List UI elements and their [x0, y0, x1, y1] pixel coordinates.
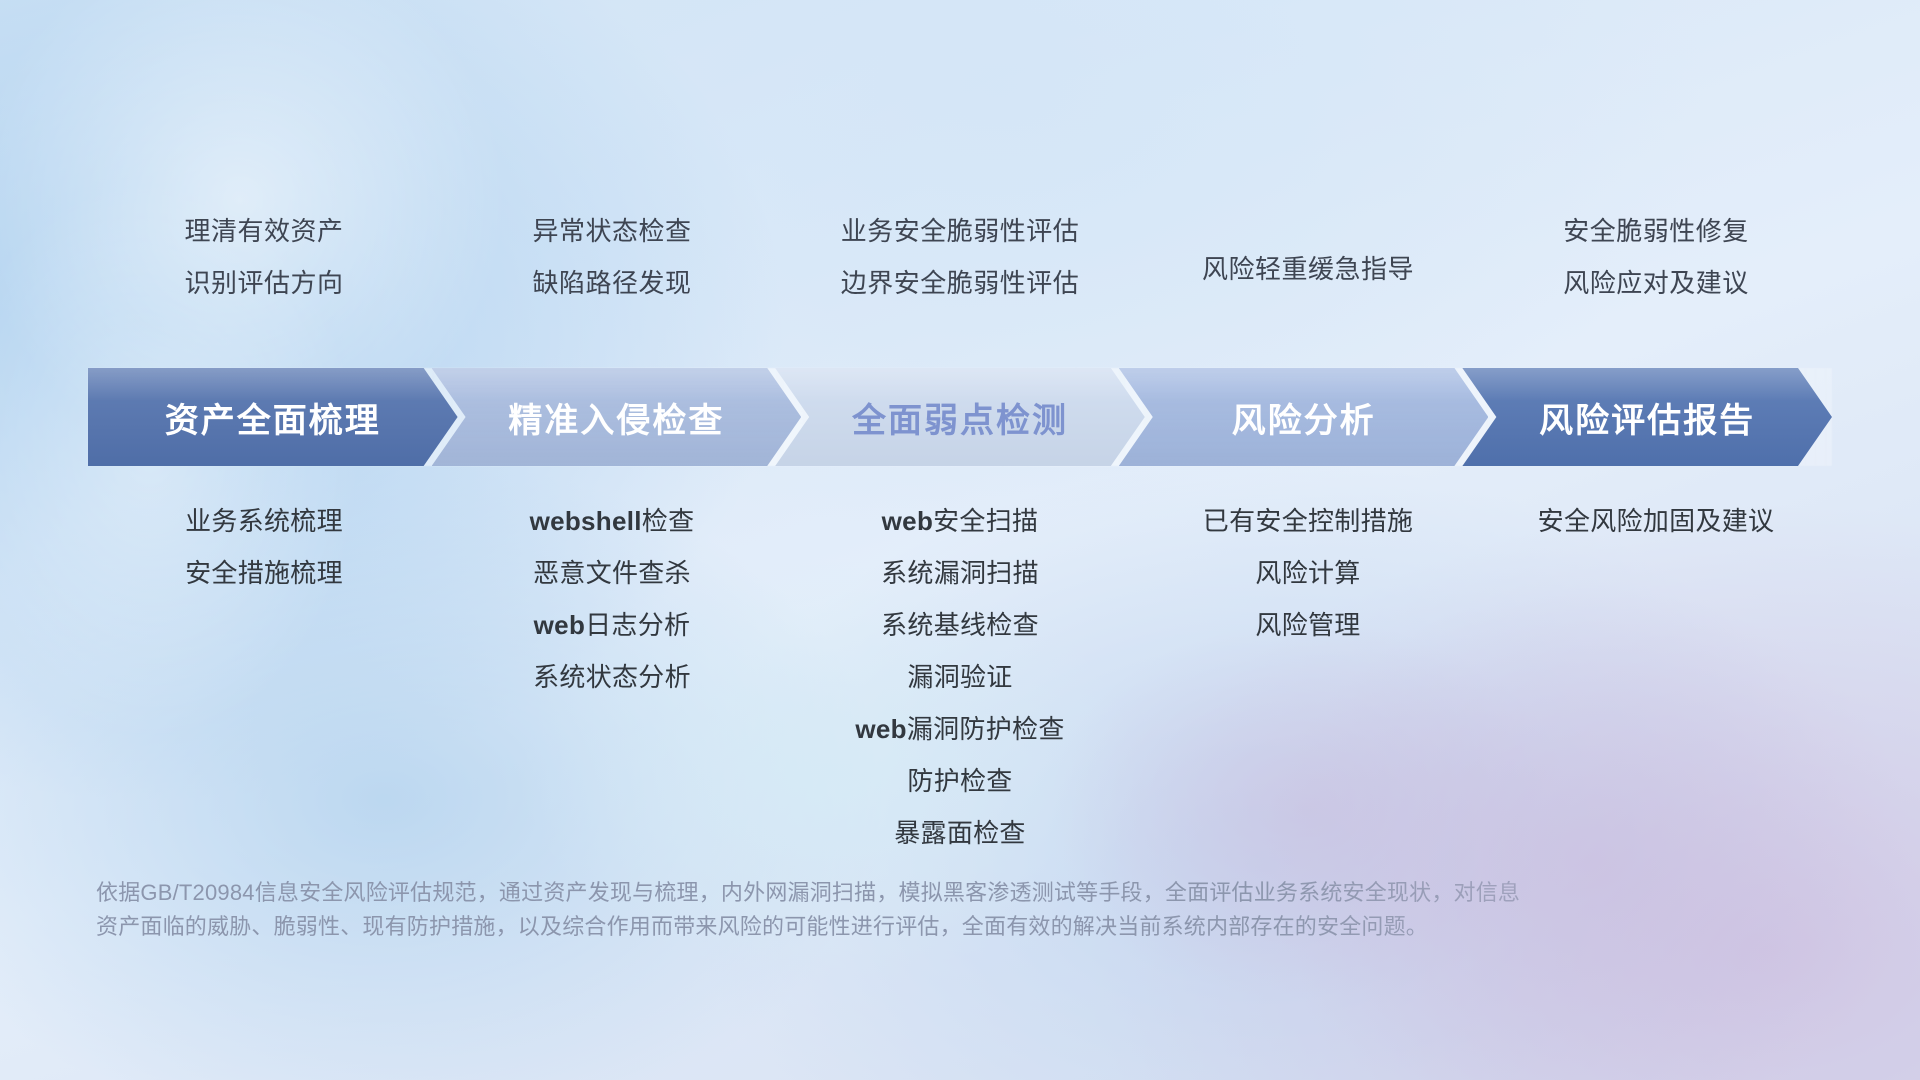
top-notes-row: 理清有效资产 识别评估方向 异常状态检查 缺陷路径发现 业务安全脆弱性评估 边界… [90, 218, 1830, 296]
top-notes-stage-4: 风险轻重缓急指导 [1134, 218, 1482, 296]
bottom-note: webshell检查 [438, 508, 786, 534]
top-notes-stage-1: 理清有效资产 识别评估方向 [90, 218, 438, 296]
top-notes-stage-5: 安全脆弱性修复 风险应对及建议 [1482, 218, 1830, 296]
bottom-note: 系统状态分析 [438, 664, 786, 690]
top-note: 缺陷路径发现 [438, 270, 786, 296]
bottom-note: 漏洞验证 [786, 664, 1134, 690]
top-notes-stage-2: 异常状态检查 缺陷路径发现 [438, 218, 786, 296]
process-arrow-band: 资产全面梳理 精准入侵检查 全面弱点检测 风险分析 风险评估报告 [88, 368, 1832, 466]
bottom-note: 暴露面检查 [786, 820, 1134, 846]
bottom-note: 风险计算 [1134, 560, 1482, 586]
bottom-note: web日志分析 [438, 612, 786, 638]
bottom-note: 业务系统梳理 [90, 508, 438, 534]
stage-arrow-2[interactable]: 精准入侵检查 [432, 368, 802, 466]
footer-description: 依据GB/T20984信息安全风险评估规范，通过资产发现与梳理，内外网漏洞扫描，… [96, 876, 1756, 944]
bottom-note: 已有安全控制措施 [1134, 508, 1482, 534]
top-note: 风险应对及建议 [1482, 270, 1830, 296]
arrow-list: 资产全面梳理 精准入侵检查 全面弱点检测 风险分析 风险评估报告 [88, 368, 1832, 466]
bottom-notes-stage-4: 已有安全控制措施风险计算风险管理 [1134, 508, 1482, 846]
stage-arrow-label: 精准入侵检查 [508, 393, 724, 442]
stage-arrow-5[interactable]: 风险评估报告 [1462, 368, 1832, 466]
stage-arrow-3[interactable]: 全面弱点检测 [775, 368, 1145, 466]
bottom-note: 安全风险加固及建议 [1482, 508, 1830, 534]
top-note: 安全脆弱性修复 [1482, 218, 1830, 244]
bottom-note: 风险管理 [1134, 612, 1482, 638]
slide-canvas: 理清有效资产 识别评估方向 异常状态检查 缺陷路径发现 业务安全脆弱性评估 边界… [0, 0, 1920, 1080]
bottom-note: 恶意文件查杀 [438, 560, 786, 586]
footer-line-1: 依据GB/T20984信息安全风险评估规范，通过资产发现与梳理，内外网漏洞扫描，… [96, 876, 1756, 910]
top-note: 风险轻重缓急指导 [1134, 256, 1482, 282]
bottom-note-latin: web [855, 714, 906, 744]
stage-arrow-4[interactable]: 风险分析 [1119, 368, 1489, 466]
stage-arrow-label: 风险评估报告 [1539, 393, 1755, 442]
bottom-note: web安全扫描 [786, 508, 1134, 534]
stage-arrow-1[interactable]: 资产全面梳理 [88, 368, 458, 466]
stage-arrow-label: 全面弱点检测 [852, 393, 1068, 442]
top-note: 边界安全脆弱性评估 [786, 270, 1134, 296]
top-note: 异常状态检查 [438, 218, 786, 244]
footer-line-2: 资产面临的威胁、脆弱性、现有防护措施，以及综合作用而带来风险的可能性进行评估，全… [96, 910, 1756, 944]
top-note: 业务安全脆弱性评估 [786, 218, 1134, 244]
top-note: 理清有效资产 [90, 218, 438, 244]
bottom-note: 防护检查 [786, 768, 1134, 794]
stage-arrow-label: 资产全面梳理 [165, 393, 381, 442]
bottom-notes-stage-2: webshell检查恶意文件查杀web日志分析系统状态分析 [438, 508, 786, 846]
bottom-note: web漏洞防护检查 [786, 716, 1134, 742]
bottom-notes-stage-3: web安全扫描系统漏洞扫描系统基线检查漏洞验证web漏洞防护检查防护检查暴露面检… [786, 508, 1134, 846]
bottom-note: 系统基线检查 [786, 612, 1134, 638]
top-note: 识别评估方向 [90, 270, 438, 296]
bottom-notes-stage-1: 业务系统梳理安全措施梳理 [90, 508, 438, 846]
bottom-note: 安全措施梳理 [90, 560, 438, 586]
top-notes-stage-3: 业务安全脆弱性评估 边界安全脆弱性评估 [786, 218, 1134, 296]
bottom-note: 系统漏洞扫描 [786, 560, 1134, 586]
bottom-notes-row: 业务系统梳理安全措施梳理 webshell检查恶意文件查杀web日志分析系统状态… [90, 508, 1830, 846]
bottom-notes-stage-5: 安全风险加固及建议 [1482, 508, 1830, 846]
stage-arrow-label: 风险分析 [1232, 393, 1376, 442]
bottom-note-latin: webshell [530, 506, 642, 536]
bottom-note-latin: web [534, 610, 585, 640]
bottom-note-latin: web [882, 506, 933, 536]
